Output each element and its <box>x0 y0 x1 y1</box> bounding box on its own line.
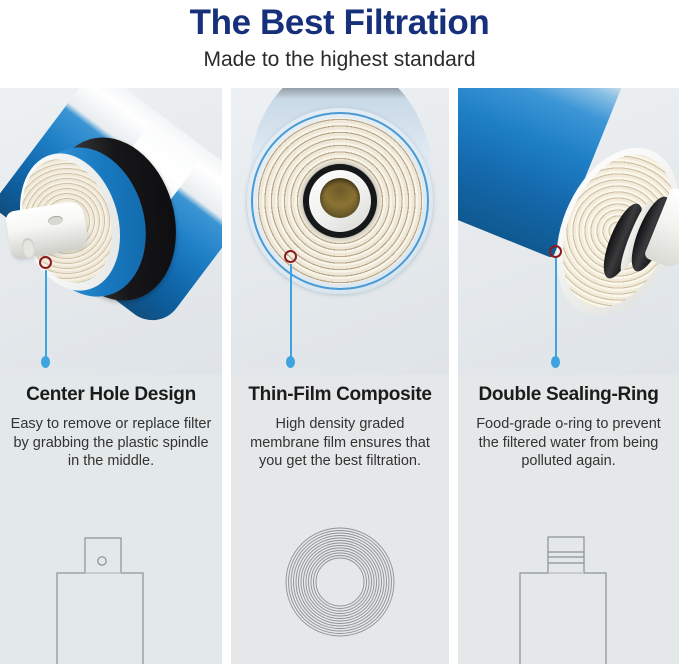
product-photo-center-hole <box>0 88 222 375</box>
callout-leader-line <box>290 264 292 361</box>
panel-heading: Thin-Film Composite <box>241 383 439 407</box>
panel-text-center-hole: Center Hole Design Easy to remove or rep… <box>0 375 222 471</box>
concentric-spiral-icon <box>231 494 449 664</box>
callout-marker-icon <box>284 250 297 263</box>
feature-panel-double-sealing-ring: Double Sealing-Ring Food-grade o-ring to… <box>458 88 679 664</box>
filter-body-spindle-icon <box>0 494 222 664</box>
callout-leader-dot-icon <box>551 356 560 368</box>
callout-leader-dot-icon <box>286 356 295 368</box>
callout-leader-line <box>45 270 47 361</box>
feature-panel-row: Center Hole Design Easy to remove or rep… <box>0 88 679 664</box>
page-title: The Best Filtration <box>0 0 679 44</box>
infographic-page: The Best Filtration Made to the highest … <box>0 0 679 664</box>
callout-marker-icon <box>39 256 52 269</box>
product-photo-thin-film <box>231 88 449 375</box>
panel-heading: Double Sealing-Ring <box>468 383 669 407</box>
membrane-center-hole <box>320 178 360 218</box>
filter-body-double-oring-icon <box>458 494 679 664</box>
lineart-center-hole <box>0 471 222 664</box>
lineart-thin-film <box>231 471 449 664</box>
callout-marker-icon <box>549 245 562 258</box>
callout-leader-line <box>555 258 557 361</box>
panel-text-double-oring: Double Sealing-Ring Food-grade o-ring to… <box>458 375 679 471</box>
header: The Best Filtration Made to the highest … <box>0 0 679 85</box>
panel-text-thin-film: Thin-Film Composite High density graded … <box>231 375 449 471</box>
panel-body: Food-grade o-ring to prevent the filtere… <box>468 415 669 471</box>
feature-panel-center-hole-design: Center Hole Design Easy to remove or rep… <box>0 88 222 664</box>
callout-leader-dot-icon <box>41 356 50 368</box>
product-photo-double-oring <box>458 88 679 375</box>
panel-body: Easy to remove or replace filter by grab… <box>10 415 212 471</box>
panel-body: High density graded membrane film ensure… <box>241 415 439 471</box>
page-subtitle: Made to the highest standard <box>0 44 679 73</box>
panel-heading: Center Hole Design <box>10 383 212 407</box>
feature-panel-thin-film-composite: Thin-Film Composite High density graded … <box>231 88 449 664</box>
lineart-double-oring <box>458 471 679 664</box>
